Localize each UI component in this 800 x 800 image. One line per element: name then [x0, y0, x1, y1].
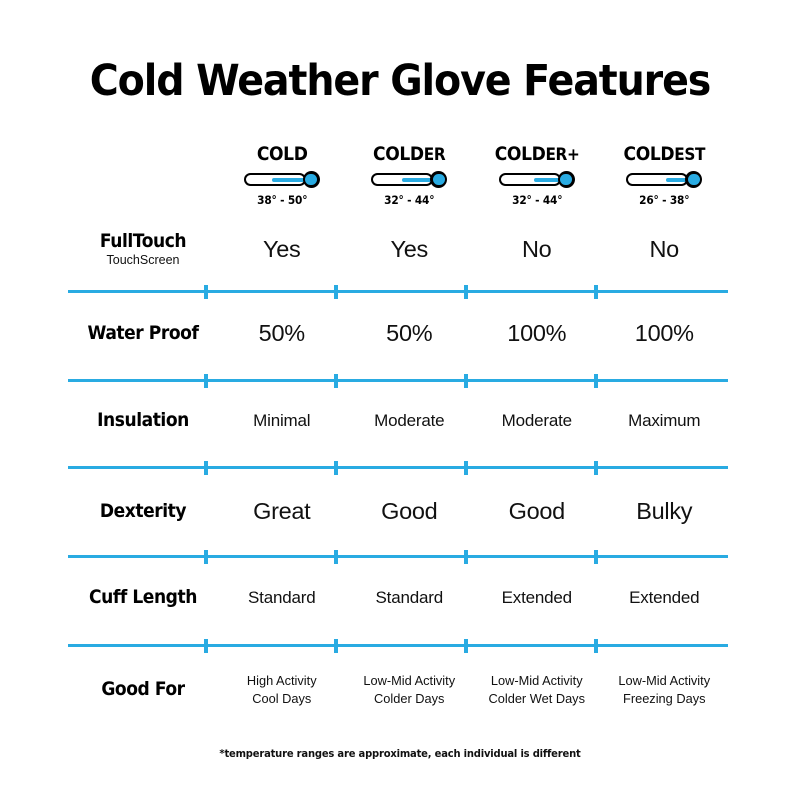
cell-value: Yes	[391, 236, 428, 262]
row-label: Insulation	[76, 411, 211, 431]
cell-value: 100%	[635, 320, 694, 346]
row-label-cell: Insulation	[68, 411, 218, 431]
column-header-label-light: EST	[674, 145, 705, 165]
footnote: *temperature ranges are approximate, eac…	[20, 748, 780, 760]
table-cell: Low-Mid ActivityFreezing Days	[601, 672, 729, 708]
divider-tick	[594, 639, 597, 653]
column-header-label-strong: COLD	[373, 143, 424, 165]
row-label-cell: Cuff Length	[68, 588, 218, 608]
table-cell: No	[601, 236, 729, 263]
divider-tick	[204, 374, 207, 388]
cell-value: Great	[253, 498, 310, 524]
row-label: Good For	[76, 680, 211, 700]
cell-value: Maximum	[628, 411, 700, 430]
cell-value: High ActivityCool Days	[247, 673, 317, 706]
table-cell: Good	[473, 498, 601, 525]
thermometer-bulb	[558, 171, 575, 188]
table-cell: High ActivityCool Days	[218, 672, 346, 708]
table-cell: Moderate	[346, 411, 474, 431]
row-label-cell: Water Proof	[68, 324, 218, 344]
table-cell: 100%	[601, 320, 729, 347]
thermometer-bulb	[430, 171, 447, 188]
column-header-range: 26° - 38°	[639, 193, 689, 207]
cell-value: Extended	[629, 588, 699, 607]
thermometer-bulb	[303, 171, 320, 188]
cell-value: 100%	[507, 320, 566, 346]
thermometer-bulb-inner	[305, 174, 317, 186]
row-divider	[68, 555, 728, 558]
table-cell: Bulky	[601, 498, 729, 525]
cell-value: Low-Mid ActivityColder Wet Days	[489, 673, 585, 706]
column-header-label-strong: COLD	[494, 143, 545, 165]
column-header-colder-plus: COLDER+ 32° - 44°	[473, 145, 601, 207]
table-cell: Minimal	[218, 411, 346, 431]
divider-tick	[594, 550, 597, 564]
column-header-label-light: ER+	[545, 145, 579, 165]
divider-tick	[464, 550, 467, 564]
infographic-page: Cold Weather Glove Features COLD 38° - 5…	[0, 0, 800, 800]
divider-tick	[334, 374, 337, 388]
column-header-range: 38° - 50°	[257, 193, 307, 207]
cell-value: No	[522, 236, 551, 262]
table-cell: Yes	[218, 236, 346, 263]
divider-tick	[594, 374, 597, 388]
table-cell: Great	[218, 498, 346, 525]
column-header-cold: COLD 38° - 50°	[218, 145, 346, 207]
row-label-cell: Good For	[68, 680, 218, 700]
divider-tick	[334, 461, 337, 475]
divider-tick	[594, 285, 597, 299]
table-cell: Standard	[346, 588, 474, 608]
divider-tick	[204, 639, 207, 653]
row-label: Water Proof	[76, 324, 211, 344]
cell-value: Low-Mid ActivityFreezing Days	[618, 673, 710, 706]
thermometer-icon	[626, 171, 702, 188]
cell-value: Extended	[502, 588, 572, 607]
cell-value: Low-Mid ActivityColder Days	[363, 673, 455, 706]
divider-tick	[464, 639, 467, 653]
divider-tick	[334, 550, 337, 564]
cell-value: Moderate	[374, 411, 444, 430]
table-header-row: COLD 38° - 50° COLDER	[68, 145, 728, 207]
divider-tick	[334, 285, 337, 299]
table-cell: 50%	[346, 320, 474, 347]
row-divider	[68, 466, 728, 469]
table-row: Water Proof 50% 50% 100% 100%	[68, 320, 728, 347]
table-cell: Yes	[346, 236, 474, 263]
cell-value: Yes	[263, 236, 300, 262]
cell-value: Standard	[248, 588, 315, 607]
column-header-label: COLDER	[373, 145, 445, 164]
table-row: Dexterity Great Good Good Bulky	[68, 498, 728, 525]
table-cell: Extended	[601, 588, 729, 608]
cell-value: Bulky	[636, 498, 692, 524]
table-row: Good For High ActivityCool Days Low-Mid …	[68, 672, 728, 708]
divider-tick	[464, 461, 467, 475]
row-label: FullTouch	[76, 232, 211, 252]
row-sublabel: TouchScreen	[68, 253, 218, 267]
row-label: Cuff Length	[76, 588, 211, 608]
table-cell: No	[473, 236, 601, 263]
thermometer-icon	[371, 171, 447, 188]
cell-value: Good	[509, 498, 565, 524]
table-cell: Moderate	[473, 411, 601, 431]
table-cell: Good	[346, 498, 474, 525]
divider-tick	[204, 550, 207, 564]
column-header-range: 32° - 44°	[384, 193, 434, 207]
column-header-colder: COLDER 32° - 44°	[346, 145, 474, 207]
thermometer-bulb	[685, 171, 702, 188]
row-label-cell: Dexterity	[68, 502, 218, 522]
table-row: FullTouch TouchScreen Yes Yes No No	[68, 232, 728, 267]
row-divider	[68, 379, 728, 382]
thermometer-icon	[499, 171, 575, 188]
divider-tick	[594, 461, 597, 475]
cell-value: 50%	[386, 320, 432, 346]
table-row: Cuff Length Standard Standard Extended E…	[68, 588, 728, 608]
thermometer-bulb-inner	[688, 174, 700, 186]
row-divider	[68, 644, 728, 647]
cell-value: 50%	[259, 320, 305, 346]
column-header-label: COLD	[256, 145, 307, 164]
column-header-label-strong: COLD	[623, 143, 674, 165]
thermometer-bulb-inner	[560, 174, 572, 186]
column-header-label-light: ER	[424, 145, 446, 165]
table-cell: Extended	[473, 588, 601, 608]
cell-value: Moderate	[502, 411, 572, 430]
row-label-cell: FullTouch TouchScreen	[68, 232, 218, 267]
column-header-label-strong: COLD	[256, 143, 307, 165]
divider-tick	[204, 285, 207, 299]
thermometer-icon	[244, 171, 320, 188]
row-label: Dexterity	[76, 502, 211, 522]
table-cell: Maximum	[601, 411, 729, 431]
cell-value: Minimal	[253, 411, 310, 430]
table-cell: 50%	[218, 320, 346, 347]
thermometer-bulb-inner	[433, 174, 445, 186]
table-cell: Low-Mid ActivityColder Days	[346, 672, 474, 708]
divider-tick	[204, 461, 207, 475]
table-cell: Standard	[218, 588, 346, 608]
divider-tick	[334, 639, 337, 653]
cell-value: Good	[381, 498, 437, 524]
comparison-table: COLD 38° - 50° COLDER	[0, 0, 800, 800]
column-header-label: COLDER+	[494, 145, 579, 164]
divider-tick	[464, 285, 467, 299]
cell-value: No	[650, 236, 679, 262]
divider-tick	[464, 374, 467, 388]
column-header-range: 32° - 44°	[512, 193, 562, 207]
column-header-coldest: COLDEST 26° - 38°	[601, 145, 729, 207]
cell-value: Standard	[376, 588, 443, 607]
table-cell: 100%	[473, 320, 601, 347]
table-row: Insulation Minimal Moderate Moderate Max…	[68, 411, 728, 431]
table-cell: Low-Mid ActivityColder Wet Days	[473, 672, 601, 708]
column-header-label: COLDEST	[623, 145, 705, 164]
row-divider	[68, 290, 728, 293]
